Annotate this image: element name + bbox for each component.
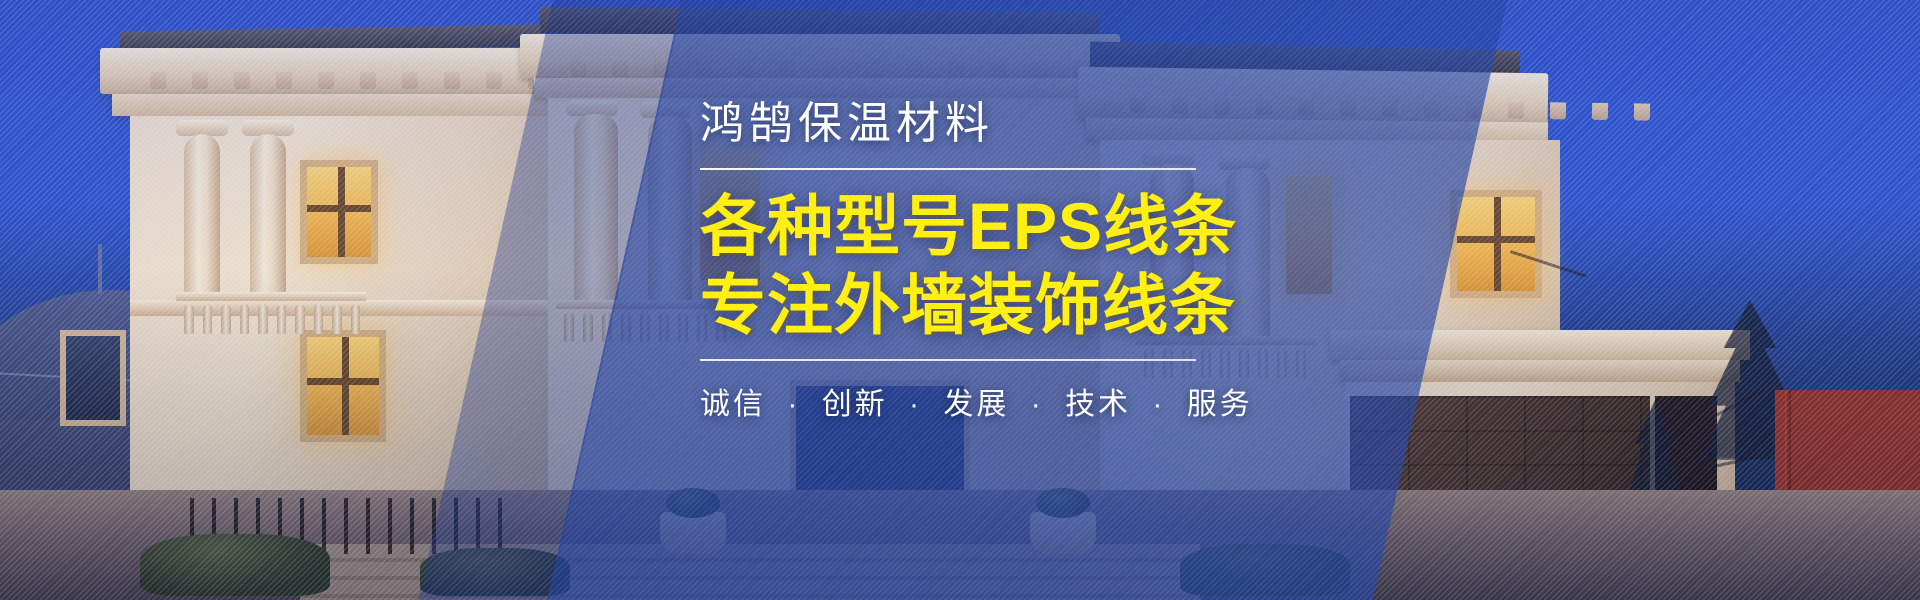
tagline-separator-2: · [909, 388, 922, 421]
headline-line-1: 各种型号EPS线条 [700, 188, 1320, 265]
left-window-lower [307, 337, 379, 435]
banner-text-block: 鸿鹄保温材料 各种型号EPS线条 专注外墙装饰线条 诚信 · 创新 · 发展 ·… [700, 100, 1320, 423]
planter-left [660, 512, 726, 554]
hedge-left [140, 534, 330, 596]
garage-cornice-upper [1330, 330, 1750, 360]
center-cornice-lower [534, 78, 1118, 98]
right-window-upper [1457, 197, 1535, 291]
center-column-1 [574, 114, 618, 304]
tagline-item-5: 服务 [1187, 388, 1253, 421]
left-window-upper [307, 167, 371, 257]
hedge-center [420, 548, 570, 596]
tagline-item-3: 发展 [943, 388, 1009, 421]
tagline-separator-4: · [1152, 388, 1165, 421]
left-window-dark-1 [60, 330, 126, 426]
tagline-item-2: 创新 [822, 388, 888, 421]
tagline-item-4: 技术 [1065, 388, 1131, 421]
tagline: 诚信 · 创新 · 发展 · 技术 · 服务 [700, 379, 1320, 423]
left-balcony-balustrade [178, 300, 366, 334]
tagline-item-1: 诚信 [700, 388, 766, 421]
planter-right [1030, 512, 1096, 554]
left-pilaster-2 [250, 134, 286, 300]
garage-cornice-lower [1340, 360, 1740, 382]
divider-bottom [700, 359, 1196, 361]
brand-name: 鸿鹄保温材料 [700, 100, 1320, 148]
tagline-separator-1: · [787, 388, 800, 421]
divider-top [700, 168, 1196, 170]
hedge-right [1180, 544, 1350, 596]
headline-line-2: 专注外墙装饰线条 [700, 267, 1320, 344]
left-pilaster-1 [184, 134, 220, 300]
left-wing-cornice-lower [112, 94, 564, 116]
hero-banner: 鸿鹄保温材料 各种型号EPS线条 专注外墙装饰线条 诚信 · 创新 · 发展 ·… [0, 0, 1920, 600]
tagline-separator-3: · [1031, 388, 1044, 421]
center-column-2 [648, 116, 692, 304]
